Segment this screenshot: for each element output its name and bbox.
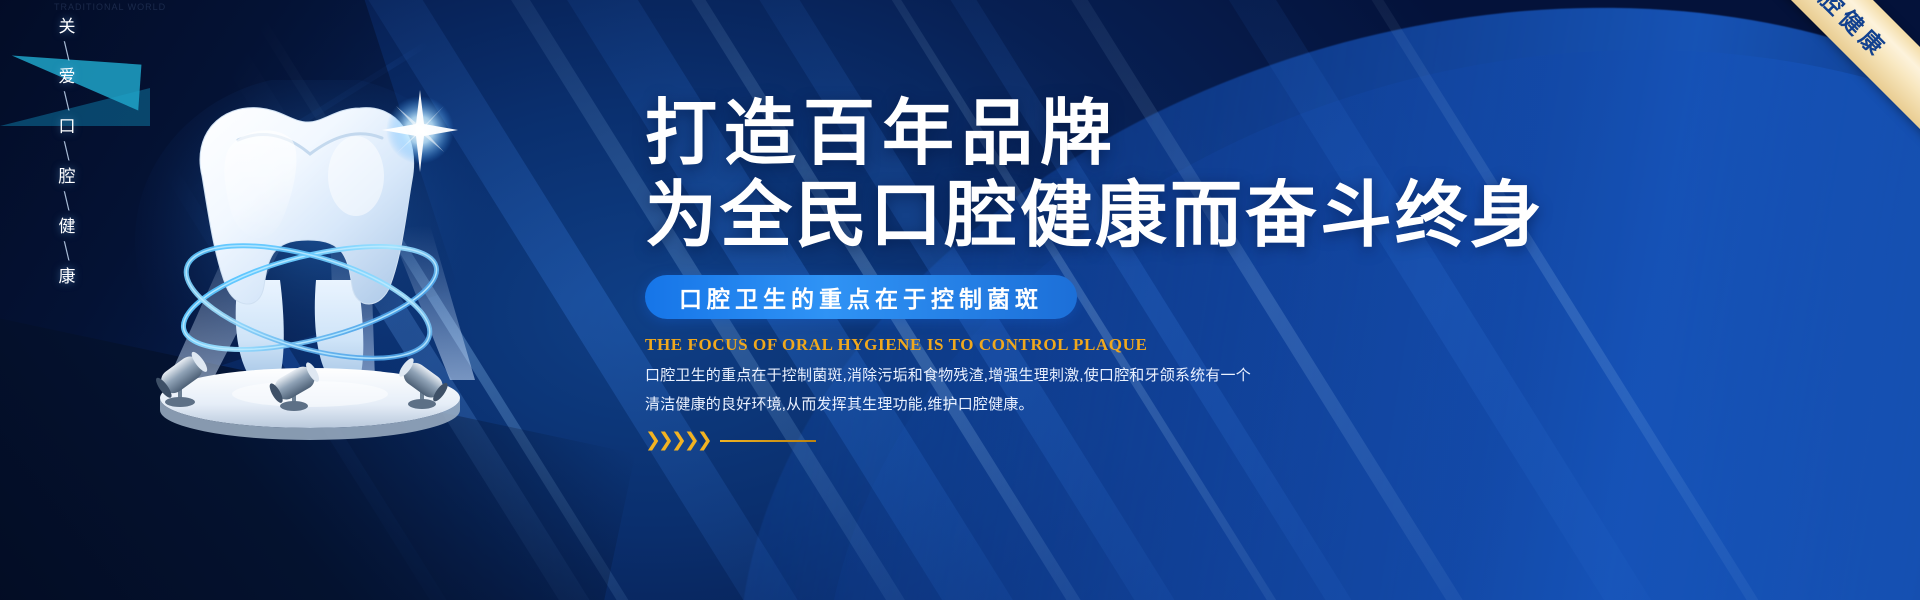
tooth-highlight-right [328, 136, 384, 216]
gold-rule [720, 440, 816, 442]
tooth-illustration [120, 80, 500, 440]
headline-primary: 打造百年品牌 [645, 96, 1825, 172]
vertical-char: 腔 [59, 168, 76, 185]
vertical-char: 爱 [59, 68, 76, 85]
vertical-separator: ╲ [61, 93, 73, 110]
chevron-decoration: ❯ ❯ ❯ ❯ ❯ [645, 431, 1825, 450]
body-paragraph-line: 清洁健康的良好环境,从而发挥其生理功能,维护口腔健康。 [645, 390, 1825, 419]
tooth-svg [120, 80, 500, 440]
english-tagline: THE FOCUS OF ORAL HYGIENE IS TO CONTROL … [645, 335, 1825, 355]
body-paragraph-line: 口腔卫生的重点在于控制菌斑,消除污垢和食物残渣,增强生理刺激,使口腔和牙颌系统有… [645, 361, 1825, 390]
vertical-char: 康 [59, 268, 76, 285]
vertical-separator: ╲ [61, 193, 73, 210]
vertical-char: 口 [59, 118, 76, 135]
dental-promo-banner: TRADITIONAL WORLD 关爱口腔健康 关 ╲ 爱 ╲ 口 ╲ 腔 ╲… [0, 0, 1920, 600]
vertical-separator: ╲ [61, 243, 73, 260]
watermark-text: TRADITIONAL WORLD [54, 2, 166, 12]
slogan-badge-label: 口腔卫生的重点在于控制菌斑 [679, 280, 1043, 314]
vertical-char: 关 [59, 18, 76, 35]
vertical-slogan: 关 ╲ 爱 ╲ 口 ╲ 腔 ╲ 健 ╲ 康 [46, 18, 88, 285]
vertical-char: 健 [59, 218, 76, 235]
vertical-separator: ╲ [61, 143, 73, 160]
banner-content: 打造百年品牌 为全民口腔健康而奋斗终身 口腔卫生的重点在于控制菌斑 THE FO… [645, 96, 1825, 450]
vertical-separator: ╲ [61, 43, 73, 60]
slogan-badge: 口腔卫生的重点在于控制菌斑 [645, 275, 1077, 319]
chevron-right-icon: ❯ [697, 431, 713, 450]
headline-secondary: 为全民口腔健康而奋斗终身 [645, 178, 1825, 254]
